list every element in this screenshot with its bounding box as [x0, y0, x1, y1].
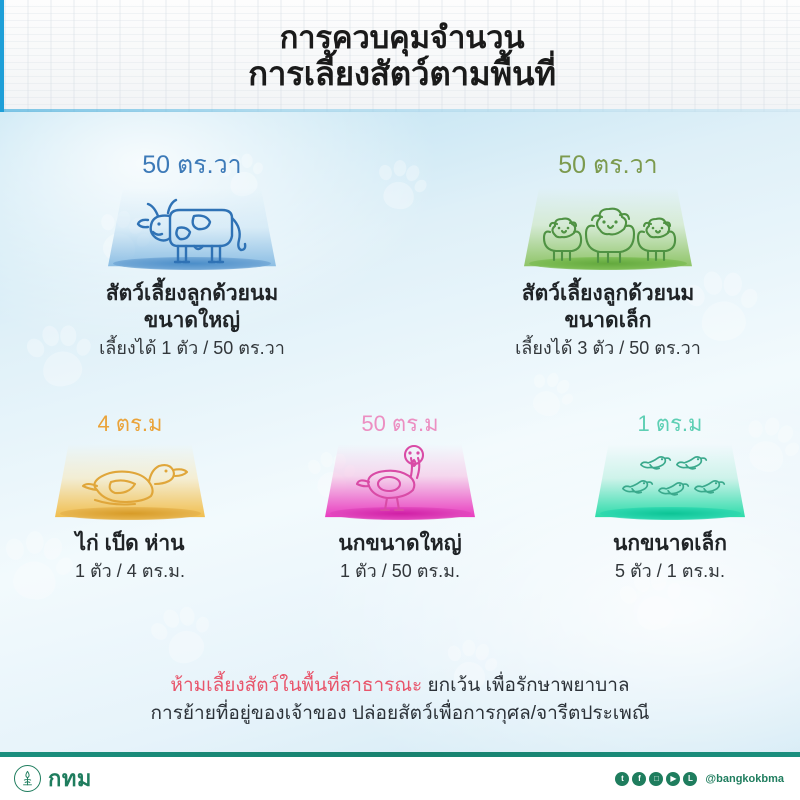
card-large-bird: 50 ตร.ม: [286, 412, 514, 584]
restriction-note: ห้ามเลี้ยงสัตว์ในพื้นที่สาธารณะ ยกเว้น เ…: [0, 672, 800, 727]
header-band: การควบคุมจำนวน การเลี้ยงสัตว์ตามพื้นที่: [0, 0, 800, 112]
duck-platform: [55, 444, 205, 520]
card-amount: 50 ตร.วา: [558, 152, 657, 180]
note-exception-text: ยกเว้น เพื่อรักษาพยาบาล: [422, 675, 629, 696]
card-title-line-1: สัตว์เลี้ยงลูกด้วยนม: [106, 280, 278, 307]
card-title-line-2: ขนาดใหญ่: [144, 307, 240, 334]
card-rule: เลี้ยงได้ 3 ตัว / 50 ตร.วา: [515, 336, 701, 360]
card-row-2: 4 ตร.ม: [0, 412, 800, 584]
line-icon[interactable]: L: [683, 772, 697, 786]
sheep-icon: [524, 188, 692, 270]
ostrich-icon: [325, 444, 475, 520]
cow-platform: [108, 188, 276, 270]
card-amount: 50 ตร.วา: [142, 152, 241, 180]
card-title-line-1: นกขนาดใหญ่: [338, 530, 461, 557]
twitter-icon[interactable]: t: [615, 772, 629, 786]
card-poultry: 4 ตร.ม: [16, 412, 244, 584]
card-amount: 4 ตร.ม: [97, 412, 162, 436]
cow-icon: [108, 188, 276, 270]
card-rule: 1 ตัว / 50 ตร.ม.: [340, 559, 460, 583]
small-birds-icon: [595, 444, 745, 520]
card-row-1: 50 ตร.วา: [0, 152, 800, 360]
youtube-icon[interactable]: ▶: [666, 772, 680, 786]
instagram-icon[interactable]: □: [649, 772, 663, 786]
card-rule: 5 ตัว / 1 ตร.ม.: [615, 559, 725, 583]
infographic-root: การควบคุมจำนวน การเลี้ยงสัตว์ตามพื้นที่ …: [0, 0, 800, 800]
card-amount: 1 ตร.ม: [637, 412, 702, 436]
card-title-line-1: นกขนาดเล็ก: [613, 530, 727, 557]
page-title-line-2: การเลี้ยงสัตว์ตามพื้นที่: [248, 55, 556, 93]
sheep-platform: [524, 188, 692, 270]
bma-logo-text: กทม: [48, 761, 92, 796]
ostrich-platform: [325, 444, 475, 520]
card-title-line-2: ขนาดเล็ก: [565, 307, 652, 334]
bma-seal-icon: [14, 765, 41, 792]
card-small-bird: 1 ตร.ม: [556, 412, 784, 584]
bma-logo: กทม: [14, 761, 92, 796]
card-title-line-1: ไก่ เป็ด ห่าน: [75, 530, 184, 557]
card-rule: 1 ตัว / 4 ตร.ม.: [75, 559, 185, 583]
footer-bar: กทม t f □ ▶ L @bangkokbma: [0, 757, 800, 800]
card-title-line-1: สัตว์เลี้ยงลูกด้วยนม: [522, 280, 694, 307]
note-prohibition-text: ห้ามเลี้ยงสัตว์ในพื้นที่สาธารณะ: [170, 675, 422, 696]
card-amount: 50 ตร.ม: [361, 412, 438, 436]
note-line-1: ห้ามเลี้ยงสัตว์ในพื้นที่สาธารณะ ยกเว้น เ…: [0, 672, 800, 700]
small-birds-platform: [595, 444, 745, 520]
duck-icon: [55, 444, 205, 520]
note-line-2: การย้ายที่อยู่ของเจ้าของ ปล่อยสัตว์เพื่อ…: [0, 700, 800, 728]
paw-print-watermark: [139, 591, 222, 674]
card-rule: เลี้ยงได้ 1 ตัว / 50 ตร.วา: [99, 336, 285, 360]
content-area: 50 ตร.วา: [0, 112, 800, 752]
social-handle[interactable]: @bangkokbma: [705, 773, 784, 785]
card-small-mammal: 50 ตร.วา: [473, 152, 743, 360]
social-links: t f □ ▶ L @bangkokbma: [615, 772, 784, 786]
page-title-line-1: การควบคุมจำนวน: [280, 20, 525, 55]
facebook-icon[interactable]: f: [632, 772, 646, 786]
card-large-mammal: 50 ตร.วา: [57, 152, 327, 360]
